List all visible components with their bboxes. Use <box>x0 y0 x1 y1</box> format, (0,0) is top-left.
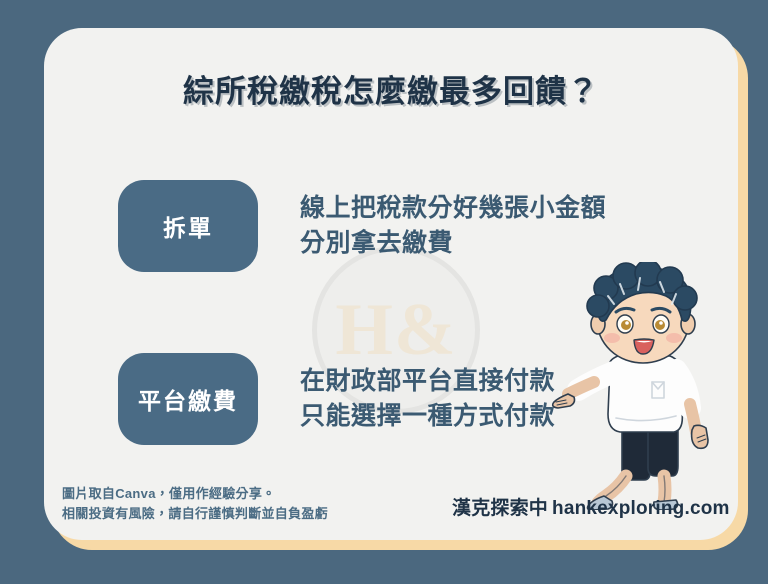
description-line: 線上把稅款分好幾張小金額 <box>300 191 606 227</box>
description-split-bill: 線上把稅款分好幾張小金額 分別拿去繳費 <box>300 191 606 262</box>
description-line: 分別拿去繳費 <box>300 226 606 262</box>
branding[interactable]: 漢克探索中hankexploring.com <box>452 493 730 520</box>
disclaimer-line: 圖片取自Canva，僅用作經驗分享。 <box>62 484 328 504</box>
description-platform-payment: 在財政部平台直接付款 只能選擇一種方式付款 <box>300 364 555 435</box>
page-title: 綜所稅繳稅怎麼繳最多回饋？ <box>44 66 738 111</box>
brand-name: 漢克探索中 <box>452 498 548 519</box>
disclaimer-line: 相關投資有風險，請自行謹慎判斷並自負盈虧 <box>62 504 328 524</box>
badge-split-bill[interactable]: 拆單 <box>118 180 258 272</box>
chibi-character-illustration <box>548 262 734 510</box>
slide-canvas: H& 綜所稅繳稅怎麼繳最多回饋？ 拆單 線上把稅款分好幾張小金額 分別拿去繳費 … <box>0 0 768 584</box>
badge-platform-payment[interactable]: 平台繳費 <box>118 353 258 445</box>
site-url: hankexploring.com <box>552 498 730 519</box>
info-row-1: 拆單 線上把稅款分好幾張小金額 分別拿去繳費 <box>44 180 738 272</box>
disclaimer-text: 圖片取自Canva，僅用作經驗分享。 相關投資有風險，請自行謹慎判斷並自負盈虧 <box>62 484 328 524</box>
description-line: 只能選擇一種方式付款 <box>300 399 555 435</box>
description-line: 在財政部平台直接付款 <box>300 364 555 400</box>
